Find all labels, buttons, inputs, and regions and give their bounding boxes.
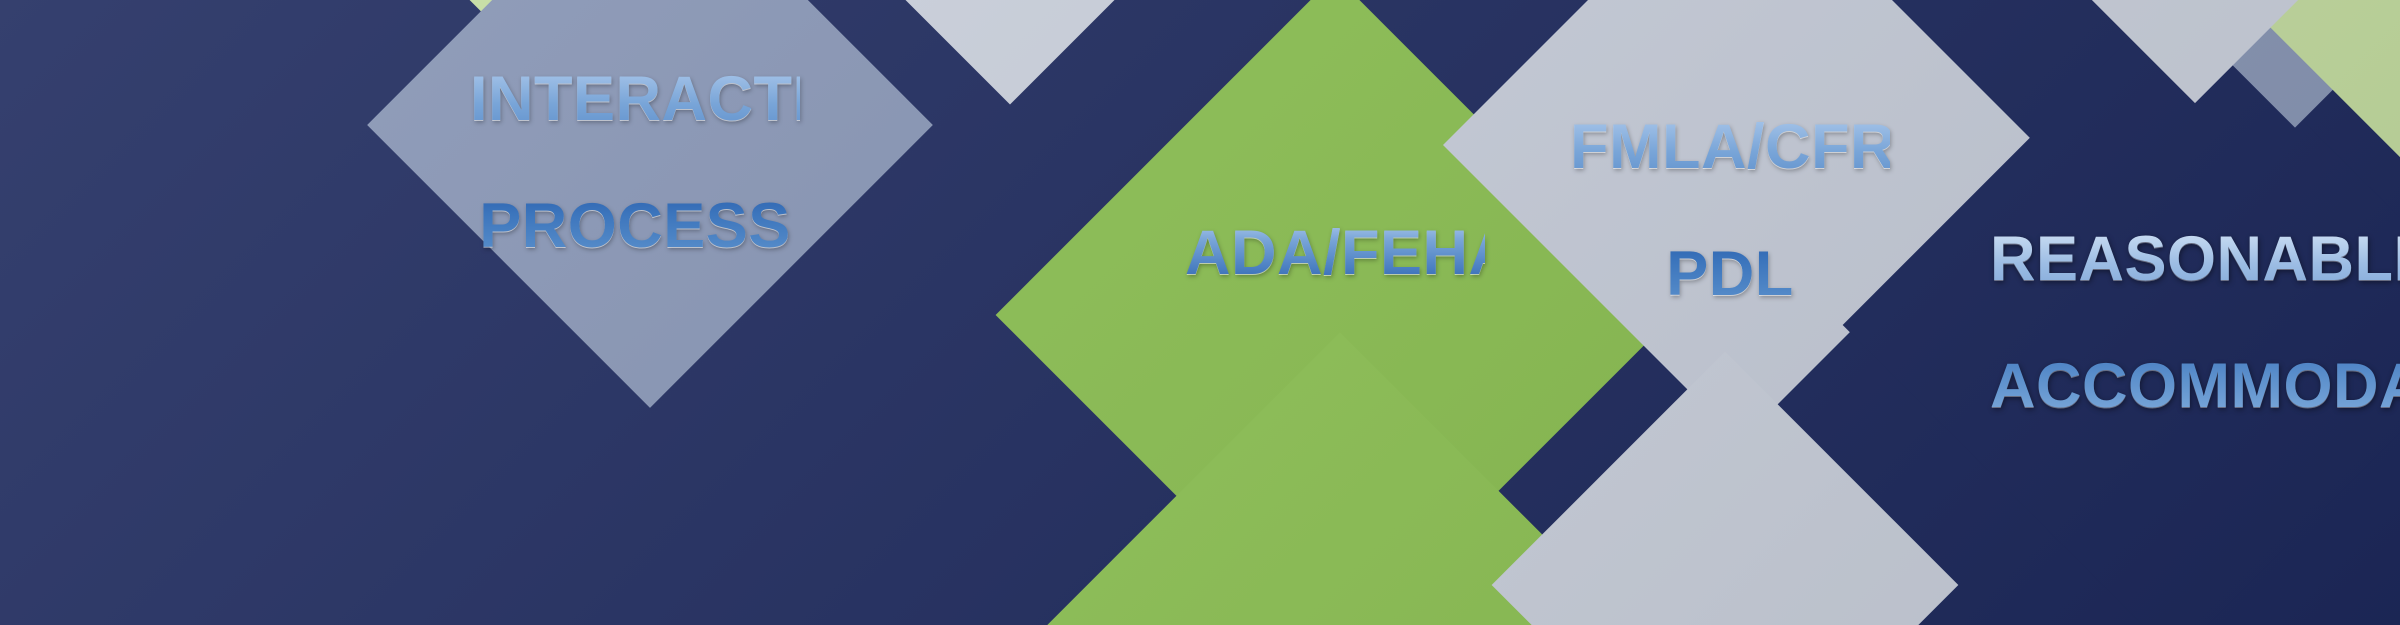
- label-ada-feha: ADA/FEHA ADA/FEHA: [1185, 222, 1485, 349]
- ada-line-1: ADA/FEHA: [1185, 222, 1485, 285]
- reasonable-line-1: REASONABLE: [1990, 228, 2400, 291]
- slide-banner: INTERACTIVE INTERACTIVE PROCESS PROCESS …: [0, 0, 2400, 625]
- reasonable-line-1-reflection: REASONABLE: [1990, 292, 2400, 355]
- label-interactive-process: INTERACTIVE INTERACTIVE PROCESS PROCESS: [470, 68, 800, 322]
- ada-line-1-reflection: ADA/FEHA: [1185, 286, 1485, 349]
- fmla-line-1-reflection: FMLA/CFRA: [1570, 180, 1890, 243]
- fmla-line-1: FMLA/CFRA: [1570, 116, 1890, 179]
- fmla-line-2: PDL: [1570, 243, 1890, 306]
- reasonable-line-2-reflection: ACCOMMODATION: [1990, 419, 2400, 482]
- interactive-line-2: PROCESS: [470, 195, 800, 258]
- label-reasonable-accommodation: REASONABLE REASONABLE ACCOMMODATION ACCO…: [1990, 228, 2400, 482]
- reasonable-line-2: ACCOMMODATION: [1990, 355, 2400, 418]
- fmla-line-2-reflection: PDL: [1570, 307, 1890, 370]
- label-fmla-cfra-pdl: FMLA/CFRA FMLA/CFRA PDL PDL: [1570, 116, 1890, 370]
- interactive-line-1: INTERACTIVE: [470, 68, 800, 131]
- interactive-line-2-reflection: PROCESS: [470, 259, 800, 322]
- interactive-line-1-reflection: INTERACTIVE: [470, 132, 800, 195]
